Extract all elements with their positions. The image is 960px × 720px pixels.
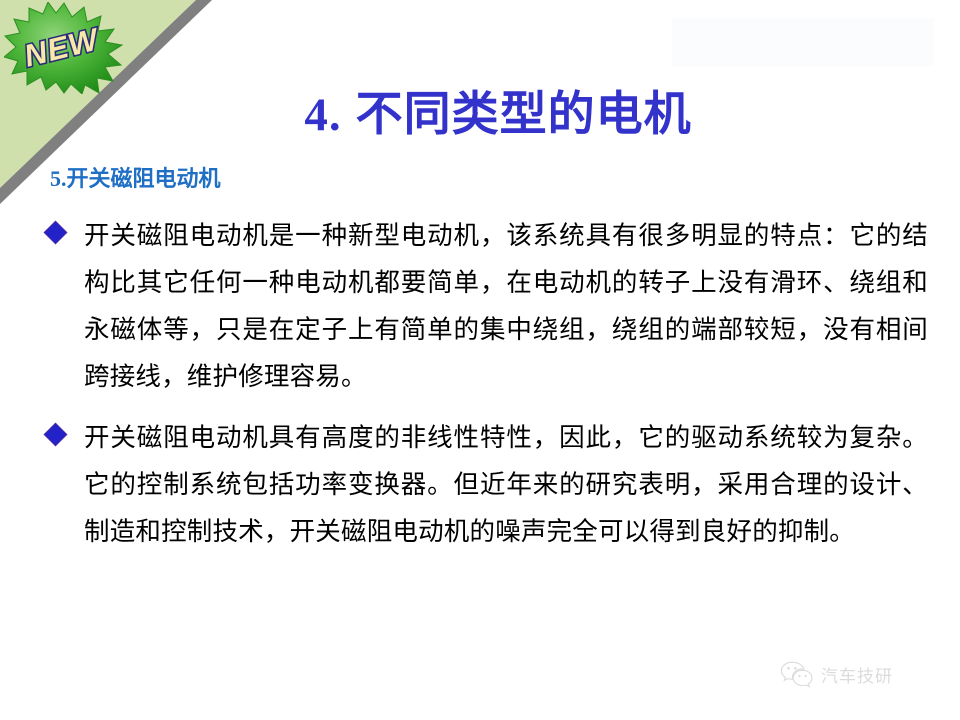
page-title: 4. 不同类型的电机 bbox=[0, 85, 960, 144]
bullet-paragraph-1: 开关磁阻电动机是一种新型电动机，该系统具有很多明显的特点：它的结构比其它任何一种… bbox=[84, 212, 928, 400]
list-item: 开关磁阻电动机具有高度的非线性特性，因此，它的驱动系统较为复杂。它的控制系统包括… bbox=[48, 414, 928, 555]
wechat-logo-icon bbox=[780, 660, 814, 688]
watermark: 汽车技研 bbox=[780, 660, 893, 688]
empty-placeholder-box bbox=[672, 18, 934, 66]
slide-canvas: NEW 4. 不同类型的电机 5.开关磁阻电动机 开关磁阻电动机是一种新型电动机… bbox=[0, 0, 960, 720]
watermark-text: 汽车技研 bbox=[821, 662, 893, 687]
title-number: 4. bbox=[304, 89, 341, 141]
new-badge: NEW bbox=[4, 2, 124, 94]
list-item: 开关磁阻电动机是一种新型电动机，该系统具有很多明显的特点：它的结构比其它任何一种… bbox=[48, 212, 928, 400]
bullet-marker bbox=[48, 212, 84, 240]
body-content: 开关磁阻电动机是一种新型电动机，该系统具有很多明显的特点：它的结构比其它任何一种… bbox=[48, 212, 928, 569]
sub-heading: 5.开关磁阻电动机 bbox=[50, 164, 221, 194]
diamond-bullet-icon bbox=[45, 222, 66, 243]
diamond-bullet-icon bbox=[45, 424, 66, 445]
bullet-paragraph-2: 开关磁阻电动机具有高度的非线性特性，因此，它的驱动系统较为复杂。它的控制系统包括… bbox=[84, 414, 928, 555]
bullet-marker bbox=[48, 414, 84, 442]
title-text: 不同类型的电机 bbox=[356, 87, 692, 140]
